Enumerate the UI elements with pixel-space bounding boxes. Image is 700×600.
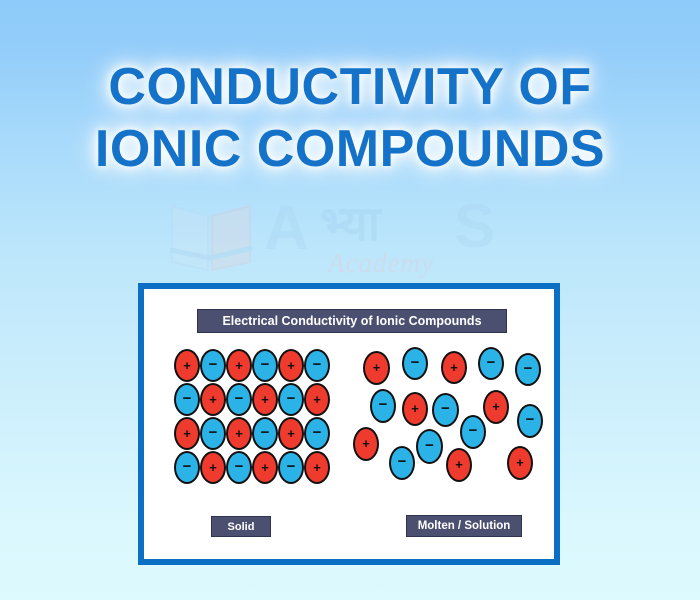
negative-charge-sign: − xyxy=(261,425,270,440)
negative-charge-sign: − xyxy=(235,391,244,406)
page-title-line-1: CONDUCTIVITY OF xyxy=(0,56,700,118)
diagram-header-bar: Electrical Conductivity of Ionic Compoun… xyxy=(197,309,507,333)
watermark-letter-s: S xyxy=(454,196,495,258)
positive-charge-sign: + xyxy=(287,427,295,440)
negative-charge-sign: − xyxy=(313,425,322,440)
negative-charge-sign: − xyxy=(183,391,192,406)
negative-charge-sign: − xyxy=(398,454,407,469)
positive-charge-sign: + xyxy=(183,359,191,372)
positive-charge-sign: + xyxy=(261,393,269,406)
negative-charge-sign: − xyxy=(469,423,478,438)
watermark-academy-text: Academy xyxy=(328,248,434,279)
lattice-ion-pos: + xyxy=(174,349,200,382)
free-ion-neg: − xyxy=(478,347,504,380)
lattice-ion-pos: + xyxy=(174,417,200,450)
lattice-ion-neg: − xyxy=(174,383,200,416)
negative-charge-sign: − xyxy=(235,459,244,474)
free-ion-pos: + xyxy=(483,390,509,424)
negative-charge-sign: − xyxy=(411,355,420,370)
lattice-ion-pos: + xyxy=(200,383,226,416)
lattice-ion-neg: − xyxy=(200,349,226,382)
open-book-icon xyxy=(168,200,254,274)
lattice-ion-pos: + xyxy=(304,383,330,416)
negative-charge-sign: − xyxy=(425,438,434,453)
positive-charge-sign: + xyxy=(516,456,524,469)
free-ion-pos: + xyxy=(507,446,533,480)
positive-charge-sign: + xyxy=(455,458,463,471)
lattice-ion-neg: − xyxy=(226,383,252,416)
free-ion-neg: − xyxy=(370,389,396,423)
free-ion-neg: − xyxy=(432,393,459,427)
negative-charge-sign: − xyxy=(379,397,388,412)
negative-charge-sign: − xyxy=(487,355,496,370)
free-ion-neg: − xyxy=(402,347,428,380)
watermark-wordmark: A भ्या S Academy xyxy=(264,192,539,278)
free-ion-neg: − xyxy=(460,415,486,449)
free-ion-neg: − xyxy=(515,353,541,386)
free-ion-neg: − xyxy=(389,446,415,480)
positive-charge-sign: + xyxy=(313,461,321,474)
lattice-ion-neg: − xyxy=(304,417,330,450)
free-ion-pos: + xyxy=(353,427,379,461)
free-ion-neg: − xyxy=(517,404,543,438)
positive-charge-sign: + xyxy=(313,393,321,406)
positive-charge-sign: + xyxy=(287,359,295,372)
positive-charge-sign: + xyxy=(183,427,191,440)
positive-charge-sign: + xyxy=(362,437,370,450)
label-molten-solution-text: Molten / Solution xyxy=(418,520,511,532)
lattice-ion-neg: − xyxy=(174,451,200,484)
negative-charge-sign: − xyxy=(287,459,296,474)
lattice-ion-pos: + xyxy=(252,451,278,484)
watermark: A भ्या S Academy xyxy=(168,192,538,287)
negative-charge-sign: − xyxy=(524,361,533,376)
lattice-ion-neg: − xyxy=(278,383,304,416)
label-solid: Solid xyxy=(211,516,271,537)
negative-charge-sign: − xyxy=(209,425,218,440)
diagram-card-inner: Electrical Conductivity of Ionic Compoun… xyxy=(144,289,554,559)
molten-solution-group: +−+−−−+−+−+−−−++ xyxy=(359,347,539,497)
lattice-ion-neg: − xyxy=(278,451,304,484)
lattice-ion-pos: + xyxy=(226,349,252,382)
positive-charge-sign: + xyxy=(209,461,217,474)
lattice-ion-pos: + xyxy=(200,451,226,484)
lattice-ion-neg: − xyxy=(252,417,278,450)
lattice-ion-pos: + xyxy=(278,349,304,382)
lattice-ion-neg: − xyxy=(200,417,226,450)
negative-charge-sign: − xyxy=(261,357,270,372)
lattice-ion-neg: − xyxy=(304,349,330,382)
positive-charge-sign: + xyxy=(235,359,243,372)
diagram-header-text: Electrical Conductivity of Ionic Compoun… xyxy=(222,314,481,328)
label-molten-solution: Molten / Solution xyxy=(406,515,522,537)
positive-charge-sign: + xyxy=(209,393,217,406)
lattice-ion-neg: − xyxy=(252,349,278,382)
poster-canvas: A भ्या S Academy CONDUCTIVITY OF IONIC C… xyxy=(0,0,700,600)
positive-charge-sign: + xyxy=(492,400,500,413)
negative-charge-sign: − xyxy=(183,459,192,474)
negative-charge-sign: − xyxy=(526,412,535,427)
page-title-line-2: IONIC COMPOUNDS xyxy=(0,118,700,180)
positive-charge-sign: + xyxy=(261,461,269,474)
positive-charge-sign: + xyxy=(373,361,381,374)
lattice-ion-pos: + xyxy=(278,417,304,450)
negative-charge-sign: − xyxy=(287,391,296,406)
watermark-letter-a: A xyxy=(264,198,309,260)
lattice-ion-neg: − xyxy=(226,451,252,484)
label-solid-text: Solid xyxy=(228,521,255,533)
free-ion-pos: + xyxy=(446,448,472,482)
watermark-devanagari: भ्या xyxy=(320,196,380,254)
lattice-ion-pos: + xyxy=(304,451,330,484)
lattice-ion-pos: + xyxy=(252,383,278,416)
page-title: CONDUCTIVITY OF IONIC COMPOUNDS xyxy=(0,56,700,180)
lattice-ion-pos: + xyxy=(226,417,252,450)
positive-charge-sign: + xyxy=(450,361,458,374)
negative-charge-sign: − xyxy=(313,357,322,372)
negative-charge-sign: − xyxy=(441,401,450,416)
solid-lattice-group: +−+−+−−+−+−++−+−+−−+−+−+ xyxy=(174,349,334,494)
positive-charge-sign: + xyxy=(411,402,419,415)
diagram-card: Electrical Conductivity of Ionic Compoun… xyxy=(138,283,560,565)
free-ion-pos: + xyxy=(441,351,467,384)
negative-charge-sign: − xyxy=(209,357,218,372)
free-ion-neg: − xyxy=(416,429,443,464)
positive-charge-sign: + xyxy=(235,427,243,440)
free-ion-pos: + xyxy=(363,351,390,385)
free-ion-pos: + xyxy=(402,392,428,426)
